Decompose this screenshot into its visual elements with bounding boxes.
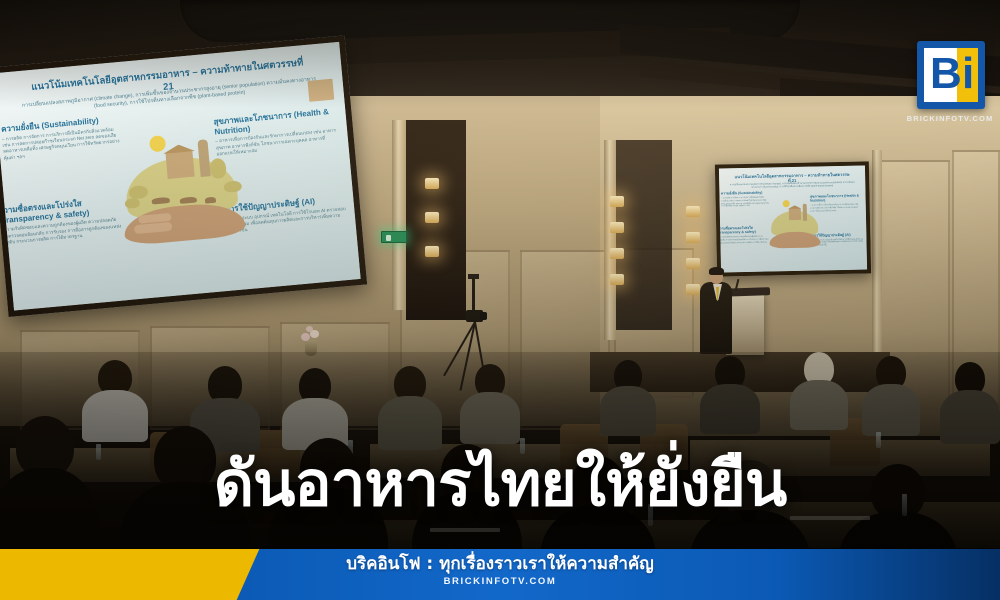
- presentation-slide-copy: แนวโน้มเทคโนโลยีอุตสาหกรรมอาหาร – ความท้…: [719, 165, 867, 272]
- headline-text: ดันอาหารไทยให้ยั่งยืน: [0, 447, 1000, 521]
- slide-block-body: – การผลิต การจัดการ การบริการที่เป็นมิตร…: [721, 196, 771, 208]
- logo-website-label: BRICKINFOTV.COM: [900, 114, 1000, 123]
- tree-icon: [223, 180, 242, 194]
- person-torso: [600, 386, 656, 436]
- water-bottle: [876, 432, 881, 448]
- wall-pillar: [392, 120, 406, 310]
- wall-sconce: [686, 206, 700, 217]
- audience-member: [282, 368, 348, 442]
- slide-block-copy: ความยั่งยืน (Sustainability) – การผลิต ก…: [721, 190, 771, 208]
- audience-member: [378, 366, 442, 442]
- slide-block-transparency: ความซื่อตรงและโปร่งใส (Transparency & sa…: [0, 195, 126, 246]
- document-on-table: [430, 528, 500, 532]
- barn-icon: [165, 150, 195, 178]
- audience-member: [862, 356, 920, 428]
- tree-icon: [209, 157, 227, 178]
- slide-block-heading: ความยั่งยืน (Sustainability): [721, 190, 771, 195]
- news-thumbnail-graphic: แนวโน้มเทคโนโลยีอุตสาหกรรมอาหาร – ความท้…: [0, 0, 1000, 600]
- slide-block-sustainability: ความยั่งยืน (Sustainability) – การผลิต ก…: [1, 115, 122, 162]
- wall-sconce: [686, 258, 700, 269]
- person-torso: [862, 384, 920, 436]
- person-torso: [940, 390, 1000, 444]
- farm-illustration: [114, 130, 248, 241]
- wall-sconce: [425, 246, 439, 257]
- projection-screen-main: แนวโน้มเทคโนโลยีอุตสาหกรรมอาหาร – ความท้…: [0, 35, 367, 317]
- audience-member: [600, 360, 656, 430]
- presentation-slide: แนวโน้มเทคโนโลยีอุตสาหกรรมอาหาร – ความท้…: [0, 42, 361, 311]
- logo-letter-b: B: [930, 52, 960, 96]
- audience-member: [940, 362, 1000, 436]
- doorway: [616, 140, 672, 330]
- audience-member: [790, 352, 848, 422]
- audience-member: [700, 356, 760, 428]
- slide-block-heading: ความซื่อตรงและโปร่งใส (Transparency & sa…: [717, 226, 770, 235]
- camera-pole: [472, 278, 475, 312]
- wall-sconce: [610, 196, 624, 207]
- person-torso: [700, 384, 760, 434]
- wall-sconce: [425, 178, 439, 189]
- bottom-branding-bar: บริคอินโฟ : ทุกเรื่องราวเราให้ความสำคัญ …: [0, 549, 1000, 600]
- slide-block-body: – ความรับผิดชอบและความถูกต้องของผู้ผลิต …: [717, 236, 770, 246]
- logo-inner-panel: B i: [924, 48, 978, 102]
- farm-illustration-copy: [768, 201, 821, 246]
- person-torso: [790, 380, 848, 430]
- slide-org-logo: [308, 78, 334, 102]
- barn-icon: [789, 208, 801, 220]
- flower-bloom: [301, 333, 310, 341]
- brickinfo-logo[interactable]: B i: [917, 41, 985, 109]
- slide-block-copy: ความซื่อตรงและโปร่งใส (Transparency & sa…: [717, 226, 770, 246]
- wall-sconce: [610, 274, 624, 285]
- wall-sconce: [610, 248, 624, 259]
- website-url-text: BRICKINFOTV.COM: [0, 576, 1000, 587]
- wall-pillar: [604, 140, 616, 340]
- hand-icon: [769, 231, 820, 248]
- person-torso: [460, 392, 520, 444]
- wall-sconce: [686, 284, 700, 295]
- flower-bloom: [306, 326, 313, 332]
- logo-letter-i: i: [962, 52, 974, 96]
- wall-sconce: [610, 222, 624, 233]
- sun-icon: [782, 201, 789, 208]
- wall-sconce: [425, 212, 439, 223]
- slide-subtitle-copy: การเปลี่ยนแปลงสภาพภูมิอากาศ (climate cha…: [728, 180, 857, 189]
- exit-sign: [381, 231, 407, 243]
- audience-member: [460, 364, 520, 438]
- projection-screen-secondary: แนวโน้มเทคโนโลยีอุตสาหกรรมอาหาร – ความท้…: [715, 161, 871, 276]
- silo-icon: [803, 204, 808, 221]
- wall-sconce: [686, 232, 700, 243]
- camera-lens: [480, 312, 487, 320]
- sun-icon: [149, 135, 167, 153]
- speaker-hair: [709, 267, 724, 275]
- tagline-text: บริคอินโฟ : ทุกเรื่องราวเราให้ความสำคัญ: [0, 553, 1000, 575]
